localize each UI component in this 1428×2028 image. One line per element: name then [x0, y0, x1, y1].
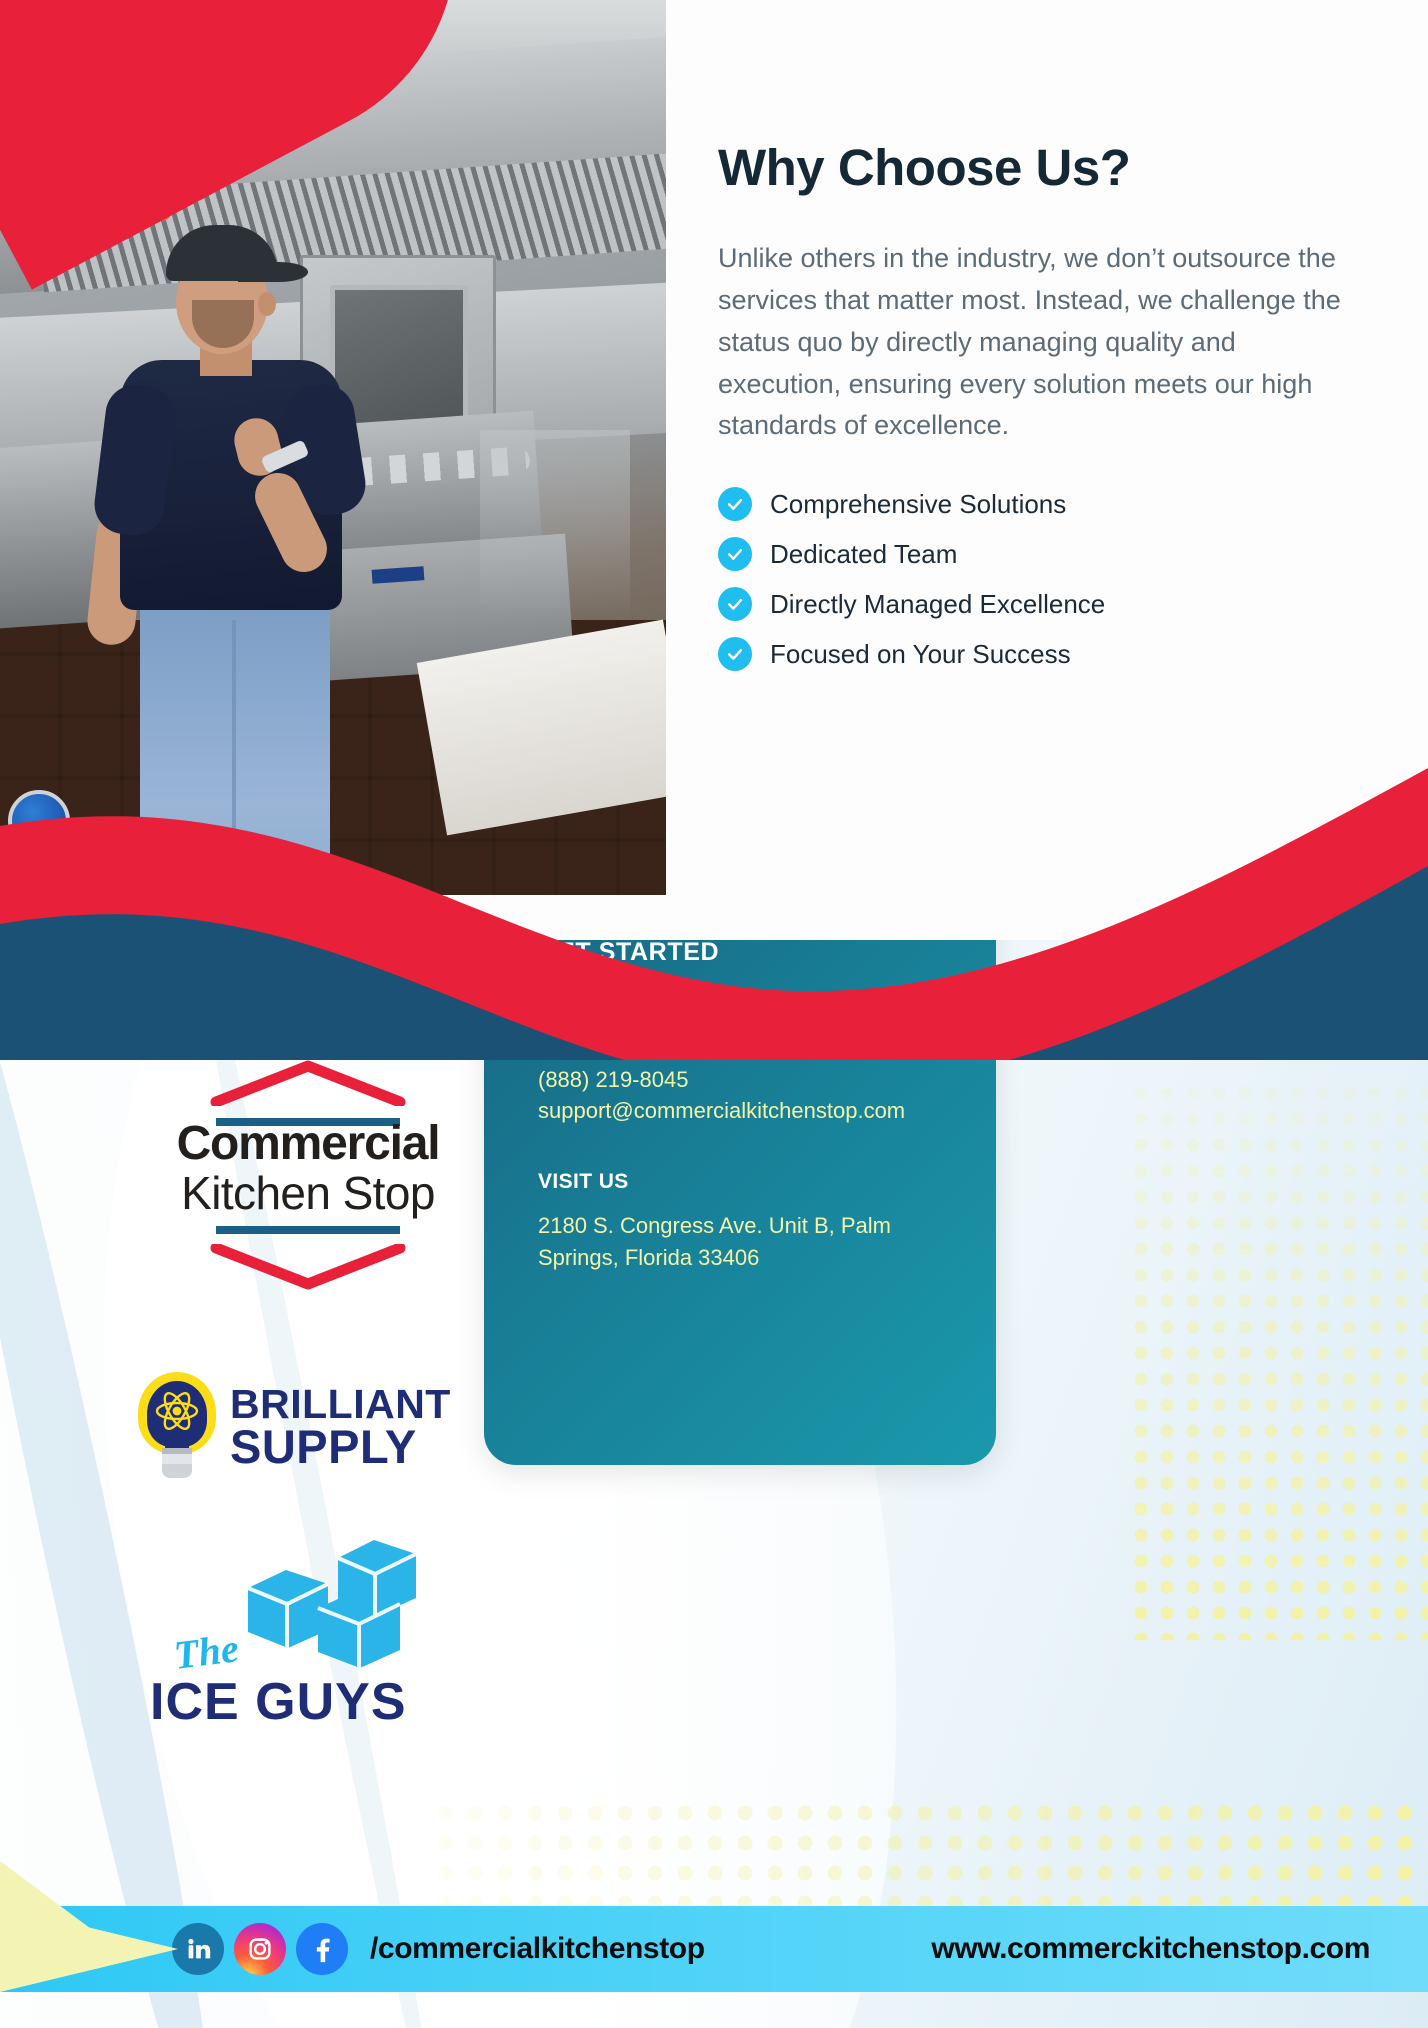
hero-paragraph: Unlike others in the industry, we don’t … [718, 238, 1358, 447]
social-handle[interactable]: /commercialkitchenstop [370, 1932, 705, 1966]
facebook-icon[interactable] [296, 1923, 348, 1975]
contact-card-heading: FOR ANY QUESTIONS OR TO GET STARTED [538, 940, 946, 968]
list-item: Focused on Your Success [718, 637, 1358, 671]
visit-us-label: VISIT US [538, 1170, 946, 1194]
check-circle-icon [718, 587, 752, 621]
flyer-page: Why Choose Us? Unlike others in the indu… [0, 0, 1428, 2028]
list-item-label: Focused on Your Success [770, 639, 1071, 670]
website-url[interactable]: www.commerckitchenstop.com [931, 1932, 1370, 1966]
ice-cubes-icon [234, 1532, 434, 1672]
brilliant-supply-logo: BRILLIANT SUPPLY [138, 1362, 478, 1492]
contact-card: FOR ANY QUESTIONS OR TO GET STARTED CONT… [484, 940, 996, 1465]
list-item: Directly Managed Excellence [718, 587, 1358, 621]
page-title: Why Choose Us? [718, 140, 1358, 196]
brilliant-supply-line-2: SUPPLY [230, 1424, 478, 1469]
photo-blue-dial [8, 790, 70, 852]
logo-bar-bottom [216, 1226, 400, 1234]
linkedin-icon[interactable] [172, 1923, 224, 1975]
hero-section: Why Choose Us? Unlike others in the indu… [0, 0, 1428, 960]
list-item-label: Directly Managed Excellence [770, 589, 1105, 620]
lower-section: Commercial Kitchen Stop [0, 940, 1428, 2028]
atom-icon [155, 1389, 199, 1433]
lightbulb-atom-icon [138, 1372, 216, 1482]
logo-line-1: Commercial [138, 1120, 478, 1168]
ice-guys-main-text: ICE GUYS [150, 1672, 407, 1732]
check-circle-icon [718, 537, 752, 571]
email-address[interactable]: support@commercialkitchenstop.com [538, 1095, 946, 1126]
commercial-kitchen-stop-logo: Commercial Kitchen Stop [138, 1060, 478, 1290]
contact-us-label: CONTACT US [538, 1024, 946, 1048]
check-circle-icon [718, 637, 752, 671]
halftone-dots-pattern [1128, 1080, 1428, 1640]
photo-cart [480, 430, 630, 620]
instagram-icon[interactable] [234, 1923, 286, 1975]
brilliant-supply-line-1: BRILLIANT [230, 1385, 478, 1424]
list-item-label: Dedicated Team [770, 539, 957, 570]
halftone-dots-pattern [430, 1798, 1428, 1918]
person-cap-brim [238, 262, 308, 282]
street-address: 2180 S. Congress Ave. Unit B, Palm Sprin… [538, 1210, 946, 1272]
social-links: /commercialkitchenstop [172, 1923, 705, 1975]
benefits-list: Comprehensive Solutions Dedicated Team D… [718, 487, 1358, 671]
hero-text-column: Why Choose Us? Unlike others in the indu… [718, 140, 1358, 687]
person-ear [258, 292, 276, 316]
brand-logos: Commercial Kitchen Stop [118, 1060, 498, 1742]
chevron-down-icon [210, 1244, 406, 1290]
phone-number[interactable]: (888) 219-8045 [538, 1064, 946, 1095]
person-jeans-seam [232, 620, 236, 890]
list-item: Dedicated Team [718, 537, 1358, 571]
ice-guys-logo: The ICE GUYS [138, 1532, 478, 1742]
chevron-up-icon [210, 1060, 406, 1106]
list-item: Comprehensive Solutions [718, 487, 1358, 521]
footer-bar: /commercialkitchenstop www.commerckitche… [0, 1906, 1428, 1992]
check-circle-icon [718, 487, 752, 521]
ice-guys-script-text: The [171, 1624, 241, 1679]
list-item-label: Comprehensive Solutions [770, 489, 1066, 520]
logo-line-2: Kitchen Stop [138, 1170, 478, 1216]
